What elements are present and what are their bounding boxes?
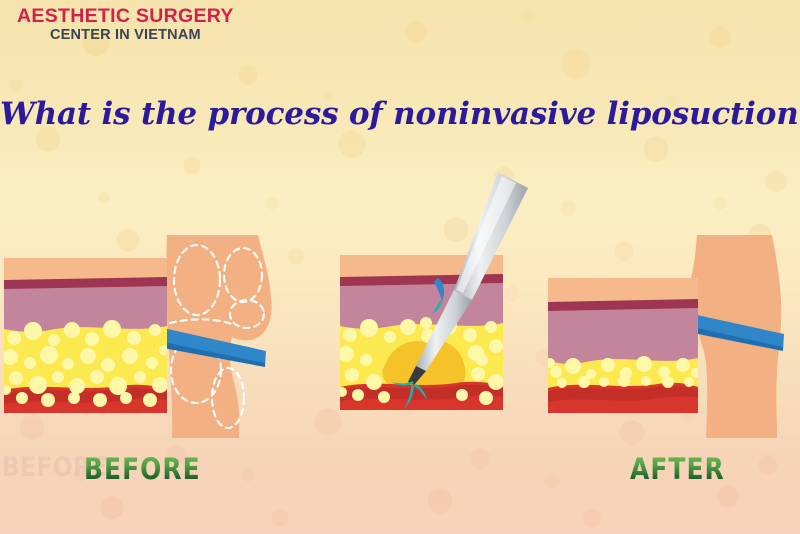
brand-logo: AESTHETIC SURGERY CENTER IN VIETNAM bbox=[17, 6, 234, 44]
before-label: BEFORE bbox=[84, 452, 201, 486]
brand-name: AESTHETIC SURGERY bbox=[17, 6, 234, 27]
before-panel bbox=[0, 230, 290, 445]
body-profile-before bbox=[163, 235, 272, 438]
brand-subtitle: CENTER IN VIETNAM bbox=[17, 27, 234, 44]
dermis-layer bbox=[548, 308, 698, 364]
procedure-illustration bbox=[330, 160, 560, 445]
after-label: AFTER bbox=[630, 452, 725, 486]
procedure-panel bbox=[330, 160, 560, 445]
before-illustration bbox=[0, 230, 290, 445]
after-panel bbox=[540, 230, 800, 445]
poster-canvas: AESTHETIC SURGERY CENTER IN VIETNAM What… bbox=[0, 0, 800, 534]
body-profile-after bbox=[683, 235, 784, 438]
after-illustration bbox=[540, 230, 800, 445]
page-title: What is the process of noninvasive lipos… bbox=[0, 96, 800, 132]
skin-cross-section-after bbox=[548, 278, 698, 413]
